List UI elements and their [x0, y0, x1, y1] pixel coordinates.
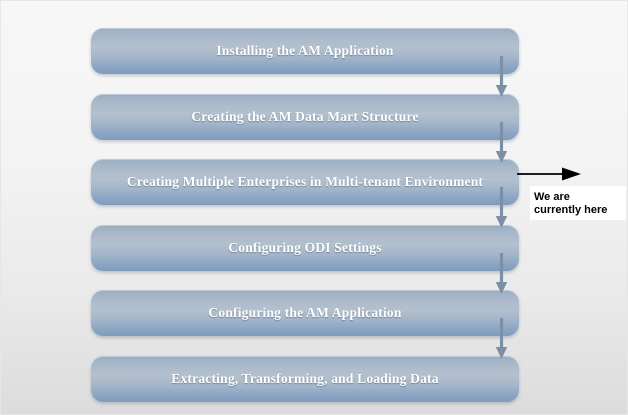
process-step-extracting-transforming-loading-data[interactable]: Extracting, Transforming, and Loading Da… [91, 356, 519, 402]
flowchart-canvas: Installing the AM Application Creating t… [0, 0, 628, 415]
connector-down-arrow-5-to-6 [495, 318, 508, 360]
callout-note-line-1: We are [534, 191, 626, 204]
process-step-creating-multiple-enterprises[interactable]: Creating Multiple Enterprises in Multi-t… [91, 159, 519, 205]
process-step-configuring-am-application[interactable]: Configuring the AM Application [91, 290, 519, 336]
callout-right-arrow-icon [517, 166, 583, 182]
callout-note-current-position: We are currently here [530, 186, 626, 220]
process-step-creating-data-mart-structure[interactable]: Creating the AM Data Mart Structure [91, 94, 519, 140]
connector-down-arrow-2-to-3 [495, 122, 508, 164]
connector-down-arrow-1-to-2 [495, 56, 508, 98]
process-step-installing-am-application[interactable]: Installing the AM Application [91, 28, 519, 74]
process-step-label: Creating Multiple Enterprises in Multi-t… [127, 174, 483, 190]
process-step-label: Configuring ODI Settings [228, 240, 381, 256]
callout-note-line-2: currently here [534, 204, 626, 217]
process-step-label: Configuring the AM Application [208, 305, 401, 321]
process-step-label: Creating the AM Data Mart Structure [191, 109, 418, 125]
process-step-configuring-odi-settings[interactable]: Configuring ODI Settings [91, 225, 519, 271]
process-step-label: Installing the AM Application [216, 43, 393, 59]
connector-down-arrow-4-to-5 [495, 253, 508, 295]
process-step-label: Extracting, Transforming, and Loading Da… [171, 371, 438, 387]
connector-down-arrow-3-to-4 [495, 187, 508, 229]
